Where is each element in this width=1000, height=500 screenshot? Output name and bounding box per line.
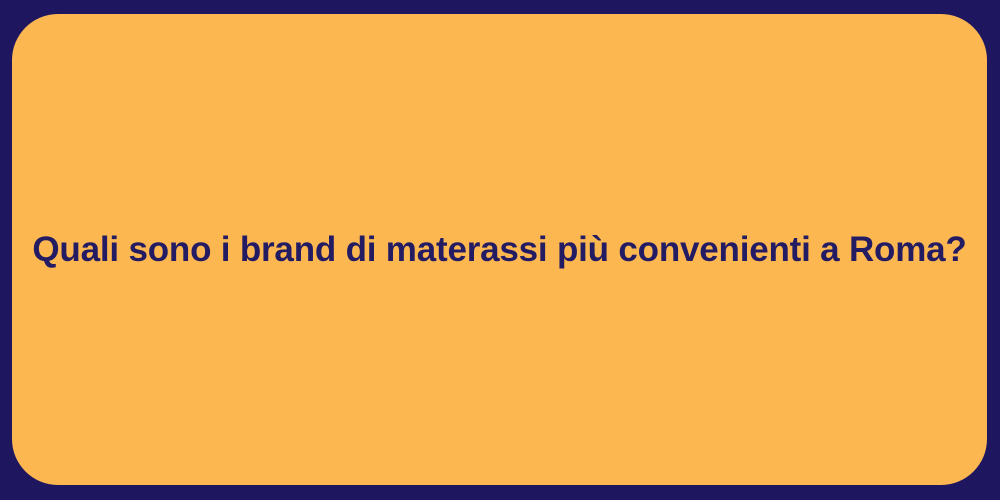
banner-panel: Quali sono i brand di materassi più conv… bbox=[12, 14, 987, 485]
banner-heading: Quali sono i brand di materassi più conv… bbox=[0, 228, 1000, 272]
banner-frame: Quali sono i brand di materassi più conv… bbox=[0, 0, 1000, 500]
